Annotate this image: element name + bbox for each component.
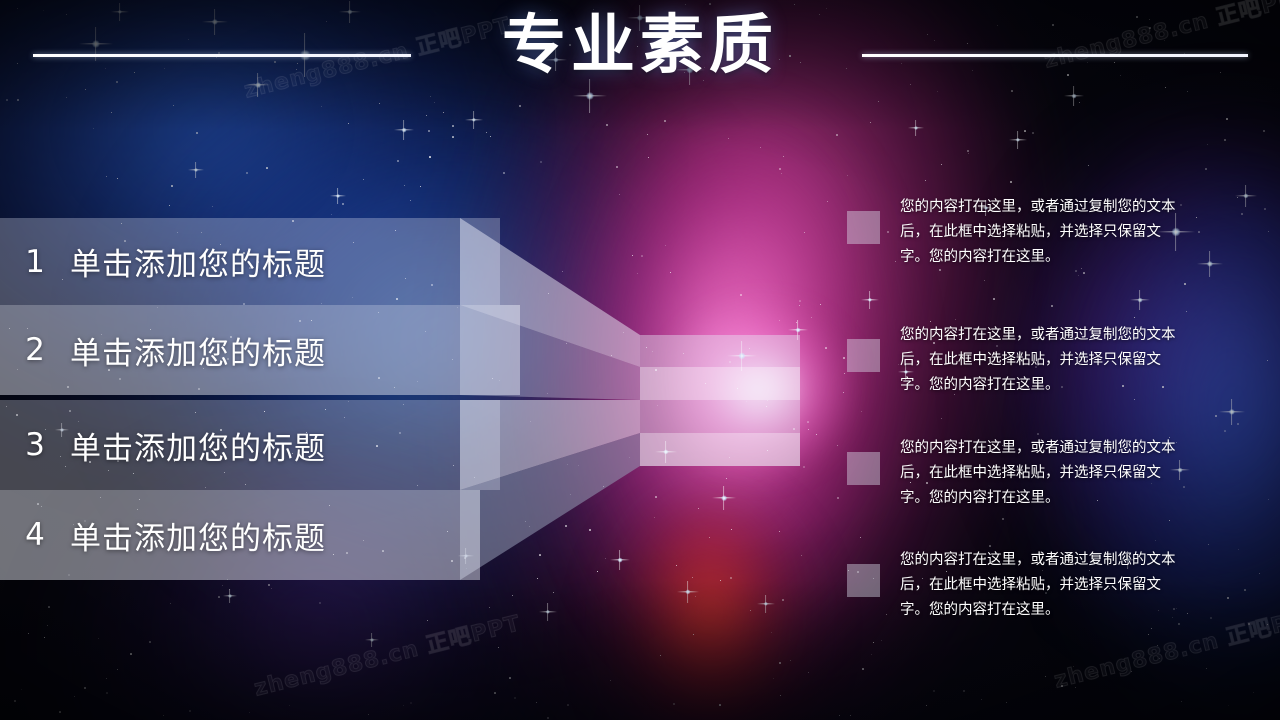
detail-row-2[interactable]: 您的内容打在这里，或者通过复制您的文本后，在此框中选择粘贴，并选择只保留文字。您…: [847, 323, 1181, 398]
list-item-3-number: 3: [0, 427, 70, 463]
detail-text-4: 您的内容打在这里，或者通过复制您的文本后，在此框中选择粘贴，并选择只保留文字。您…: [900, 548, 1181, 623]
output-bar-2: [640, 367, 800, 400]
output-bar-3: [640, 400, 800, 433]
detail-text-3: 您的内容打在这里，或者通过复制您的文本后，在此框中选择粘贴，并选择只保留文字。您…: [900, 436, 1181, 511]
detail-text-1: 您的内容打在这里，或者通过复制您的文本后，在此框中选择粘贴，并选择只保留文字。您…: [900, 195, 1181, 270]
list-item-1-number: 1: [0, 244, 70, 280]
list-item-2-label: 单击添加您的标题: [70, 328, 326, 373]
detail-row-4[interactable]: 您的内容打在这里，或者通过复制您的文本后，在此框中选择粘贴，并选择只保留文字。您…: [847, 548, 1181, 623]
page-title: 专业素质: [0, 14, 1280, 78]
list-item-2[interactable]: 2 单击添加您的标题: [0, 305, 520, 395]
bullet-square-3: [847, 452, 880, 485]
output-bar-1: [640, 335, 800, 367]
slide-canvas: 专业素质 1 单击添加您的标题 2 单击添加您的标题 3 单击添加您的标题: [0, 0, 1280, 720]
list-item-4-label: 单击添加您的标题: [70, 513, 326, 558]
bullet-square-4: [847, 564, 880, 597]
detail-text-2: 您的内容打在这里，或者通过复制您的文本后，在此框中选择粘贴，并选择只保留文字。您…: [900, 323, 1181, 398]
list-item-3-label: 单击添加您的标题: [70, 423, 326, 468]
list-item-1-label: 单击添加您的标题: [70, 239, 326, 284]
bullet-square-1: [847, 211, 880, 244]
detail-row-1[interactable]: 您的内容打在这里，或者通过复制您的文本后，在此框中选择粘贴，并选择只保留文字。您…: [847, 195, 1181, 270]
list-item-2-number: 2: [0, 332, 70, 368]
list-item-4[interactable]: 4 单击添加您的标题: [0, 490, 480, 580]
output-bar-4: [640, 433, 800, 466]
list-item-3[interactable]: 3 单击添加您的标题: [0, 400, 500, 490]
list-item-4-number: 4: [0, 517, 70, 553]
detail-row-3[interactable]: 您的内容打在这里，或者通过复制您的文本后，在此框中选择粘贴，并选择只保留文字。您…: [847, 436, 1181, 511]
bullet-square-2: [847, 339, 880, 372]
list-item-1[interactable]: 1 单击添加您的标题: [0, 218, 500, 305]
